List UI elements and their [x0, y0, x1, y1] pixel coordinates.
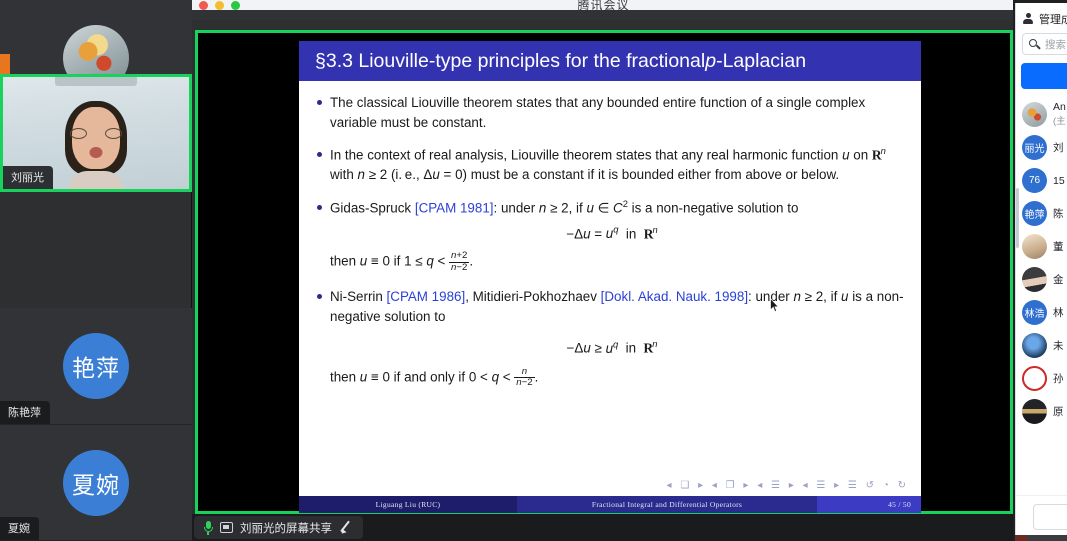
participant-row[interactable]: 76 15	[1016, 164, 1067, 197]
people-icon	[1022, 13, 1034, 25]
bullet-text: Ni-Serrin [CPAM 1986], Mitidieri-Pokhozh…	[330, 287, 907, 326]
avatar: 林浩	[1022, 300, 1047, 325]
tile-name-label: 夏婉	[0, 517, 39, 540]
video-tile-liuliguang-active-speaker[interactable]: 刘丽光	[0, 74, 192, 192]
avatar	[1022, 234, 1047, 259]
microphone-on-icon[interactable]	[203, 521, 213, 535]
participant-name: 董	[1053, 239, 1064, 254]
panel-scrollbar[interactable]	[1016, 188, 1019, 248]
slide-body: The classical Liouville theorem states t…	[299, 81, 921, 388]
pencil-annotate-icon[interactable]	[339, 521, 352, 534]
citation-link[interactable]: [CPAM 1981]	[415, 200, 494, 215]
zoom-button[interactable]	[231, 1, 240, 10]
beamer-navigation-symbols[interactable]: ◂ ❑ ▸ ◂ ❐ ▸ ◂ ☰ ▸ ◂ ☰ ▸ ☰ ↺ ◔ ↻	[299, 480, 921, 491]
participant-row[interactable]: 董	[1016, 230, 1067, 263]
screen-share-toolbar: 刘丽光的屏幕共享	[192, 514, 1015, 541]
participant-row[interactable]: 林浩 林	[1016, 296, 1067, 329]
bullet-text: In the context of real analysis, Liouvil…	[330, 145, 907, 185]
participant-row[interactable]: 孙	[1016, 362, 1067, 395]
panel-footer-button[interactable]	[1033, 504, 1067, 530]
participants-panel: 管理成 搜索 An(主 丽光 刘 76 15 艳萍 陈	[1015, 3, 1067, 541]
participant-name: 金	[1053, 272, 1064, 287]
avatar	[1022, 399, 1047, 424]
avatar	[1022, 333, 1047, 358]
display-equation: −Δu = uq in Rn	[317, 225, 907, 242]
primary-action-button[interactable]	[1021, 63, 1067, 89]
slide-title-italic: p	[705, 50, 716, 73]
citation-link-2[interactable]: [Dokl. Akad. Nauk. 1998]	[601, 289, 748, 304]
mouse-cursor	[770, 298, 779, 313]
participant-filmstrip: AnZHANG 刘丽光 艳萍 陈艳萍 夏婉 夏婉 林浩 林浩	[0, 0, 192, 541]
shared-screen-area: 腾讯会议 §3.3 Liouville-type principles for …	[192, 0, 1015, 541]
webcam-face	[50, 101, 142, 189]
bullet-dot-icon	[317, 205, 322, 210]
minimize-button[interactable]	[215, 1, 224, 10]
search-icon	[1029, 39, 1040, 50]
bullet-conclusion: then u ≡ 0 if 1 ≤ q < n+2n−2.	[317, 251, 907, 273]
background-shelf	[55, 77, 137, 86]
participant-row[interactable]: 原	[1016, 395, 1067, 428]
panel-header: 管理成	[1016, 3, 1067, 33]
participant-name: 刘	[1053, 140, 1064, 155]
panel-title: 管理成	[1039, 11, 1067, 27]
avatar: 丽光	[1022, 135, 1047, 160]
screen-share-status-pill[interactable]: 刘丽光的屏幕共享	[194, 516, 363, 539]
footer-author: Liguang Liu (RUC)	[299, 496, 517, 513]
slide-bullet: Ni-Serrin [CPAM 1986], Mitidieri-Pokhozh…	[317, 287, 907, 326]
bottom-right-strip	[1015, 535, 1067, 541]
slide-title-prefix: §3.3 Liouville-type principles for the f…	[315, 50, 705, 73]
footer-subject: Fractional Integral and Differential Ope…	[517, 496, 817, 513]
participant-row[interactable]: 未	[1016, 329, 1067, 362]
participant-name: 孙	[1053, 371, 1064, 386]
bullet-dot-icon	[317, 294, 322, 299]
slide-bullet: In the context of real analysis, Liouvil…	[317, 145, 907, 185]
avatar	[1022, 102, 1047, 127]
footer-page-number: 45 / 50	[817, 496, 921, 513]
participant-row[interactable]: 金	[1016, 263, 1067, 296]
bullet-dot-icon	[317, 152, 322, 157]
participant-name: 未	[1053, 338, 1064, 353]
participant-name: 原	[1053, 404, 1064, 419]
window-controls[interactable]	[199, 1, 240, 10]
participant-name: 陈	[1053, 206, 1064, 221]
participant-name: 15	[1053, 175, 1065, 187]
participant-row[interactable]: 丽光 刘	[1016, 131, 1067, 164]
close-button[interactable]	[199, 1, 208, 10]
avatar: 艳萍	[63, 333, 129, 399]
slide-title: §3.3 Liouville-type principles for the f…	[299, 41, 921, 81]
screen-share-icon[interactable]	[220, 522, 233, 533]
avatar: 夏婉	[63, 450, 129, 516]
video-tile-chenyanping[interactable]: 艳萍 陈艳萍	[0, 308, 192, 424]
screen-share-highlight-frame: §3.3 Liouville-type principles for the f…	[195, 30, 1013, 514]
titlebar-strip	[192, 10, 1015, 20]
slide-bullet: The classical Liouville theorem states t…	[317, 93, 907, 132]
citation-link[interactable]: [CPAM 1986]	[387, 289, 466, 304]
bullet-dot-icon	[317, 100, 322, 105]
slide-footer: Liguang Liu (RUC) Fractional Integral an…	[299, 496, 921, 513]
tile-name-label: 刘丽光	[3, 166, 53, 189]
bullet-text: Gidas-Spruck [CPAM 1981]: under n ≥ 2, i…	[330, 198, 798, 218]
bullet-text: The classical Liouville theorem states t…	[330, 93, 907, 132]
participant-row[interactable]: 艳萍 陈	[1016, 197, 1067, 230]
participant-row[interactable]: An(主	[1016, 97, 1067, 131]
slide-title-suffix: -Laplacian	[716, 50, 806, 73]
slide-bullet: Gidas-Spruck [CPAM 1981]: under n ≥ 2, i…	[317, 198, 907, 218]
search-placeholder: 搜索	[1045, 37, 1066, 52]
avatar: 艳萍	[1022, 201, 1047, 226]
tile-name-label: 陈艳萍	[0, 401, 50, 424]
participants-list: An(主 丽光 刘 76 15 艳萍 陈 董 金 林	[1016, 97, 1067, 428]
share-label: 刘丽光的屏幕共享	[240, 520, 332, 536]
participant-name: An(主	[1053, 101, 1066, 127]
bullet-conclusion: then u ≡ 0 if and only if 0 < q < nn−2.	[317, 367, 907, 389]
participant-name: 林	[1053, 305, 1064, 320]
tencent-meeting-window: AnZHANG 刘丽光 艳萍 陈艳萍 夏婉 夏婉 林浩 林浩	[0, 0, 1067, 541]
search-input[interactable]: 搜索	[1022, 33, 1067, 55]
presentation-slide: §3.3 Liouville-type principles for the f…	[299, 41, 921, 513]
avatar: 76	[1022, 168, 1047, 193]
shared-window-titlebar: 腾讯会议	[192, 0, 1015, 20]
display-equation: −Δu ≥ uq in Rn	[317, 339, 907, 356]
mute-indicator-bar	[0, 54, 10, 74]
video-tile-xiawan[interactable]: 夏婉 夏婉	[0, 424, 192, 540]
avatar	[1022, 267, 1047, 292]
avatar	[1022, 366, 1047, 391]
